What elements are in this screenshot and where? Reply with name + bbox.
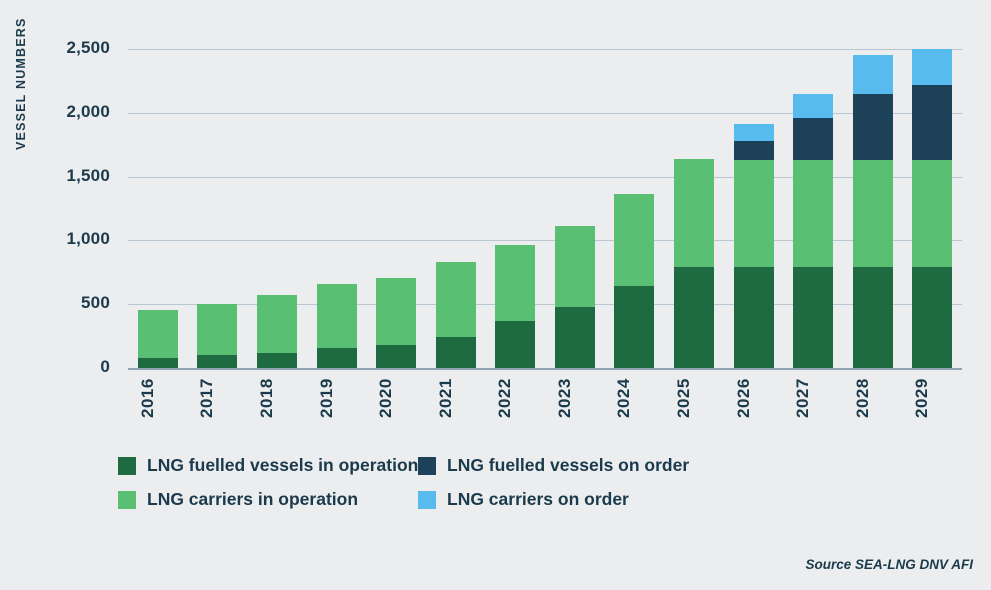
x-axis-tick-label: 2017 xyxy=(197,378,237,430)
x-axis-tick-label: 2028 xyxy=(853,378,893,430)
legend-swatch-icon xyxy=(118,457,136,475)
legend-label: LNG fuelled vessels in operation xyxy=(147,455,418,476)
x-axis-tick-label: 2025 xyxy=(674,378,714,430)
y-axis-tick-label: 1,500 xyxy=(18,166,110,186)
x-axis-tick-label: 2026 xyxy=(734,378,774,430)
legend-item-carriers-in-operation[interactable]: LNG carriers in operation xyxy=(118,489,418,510)
legend-row-2: LNG carriers in operation LNG carriers o… xyxy=(118,489,798,510)
legend-item-fuelled-in-operation[interactable]: LNG fuelled vessels in operation xyxy=(118,455,418,476)
x-axis-tick-label: 2021 xyxy=(436,378,476,430)
source-note: Source SEA-LNG DNV AFI xyxy=(805,557,973,572)
y-axis-tick-label: 1,000 xyxy=(18,229,110,249)
x-axis-tick-label: 2024 xyxy=(614,378,654,430)
x-axis-tick-label: 2020 xyxy=(376,378,416,430)
y-axis-tick-label: 2,000 xyxy=(18,102,110,122)
legend-label: LNG carriers on order xyxy=(447,489,629,510)
x-axis-tick-label: 2022 xyxy=(495,378,535,430)
legend-label: LNG carriers in operation xyxy=(147,489,358,510)
x-axis-tick-label: 2016 xyxy=(138,378,178,430)
x-axis-tick-label: 2029 xyxy=(912,378,952,430)
legend-item-carriers-on-order[interactable]: LNG carriers on order xyxy=(418,489,629,510)
y-axis-tick-label: 2,500 xyxy=(18,38,110,58)
legend-swatch-icon xyxy=(418,491,436,509)
x-axis-tick-label: 2018 xyxy=(257,378,297,430)
x-axis-tick-label: 2019 xyxy=(317,378,357,430)
x-axis-tick-label: 2023 xyxy=(555,378,595,430)
y-axis-tick-label: 500 xyxy=(18,293,110,313)
legend-item-fuelled-on-order[interactable]: LNG fuelled vessels on order xyxy=(418,455,689,476)
legend-swatch-icon xyxy=(118,491,136,509)
chart-legend: LNG fuelled vessels in operation LNG fue… xyxy=(118,455,798,523)
stacked-bar-chart: VESSEL NUMBERS 05001,0001,5002,0002,500 … xyxy=(0,0,991,590)
legend-label: LNG fuelled vessels on order xyxy=(447,455,689,476)
x-axis-tick-label: 2027 xyxy=(793,378,833,430)
legend-swatch-icon xyxy=(418,457,436,475)
y-axis-tick-label: 0 xyxy=(18,357,110,377)
legend-row-1: LNG fuelled vessels in operation LNG fue… xyxy=(118,455,798,476)
x-axis-ticks: 2016201720182019202020212022202320242025… xyxy=(128,0,962,440)
